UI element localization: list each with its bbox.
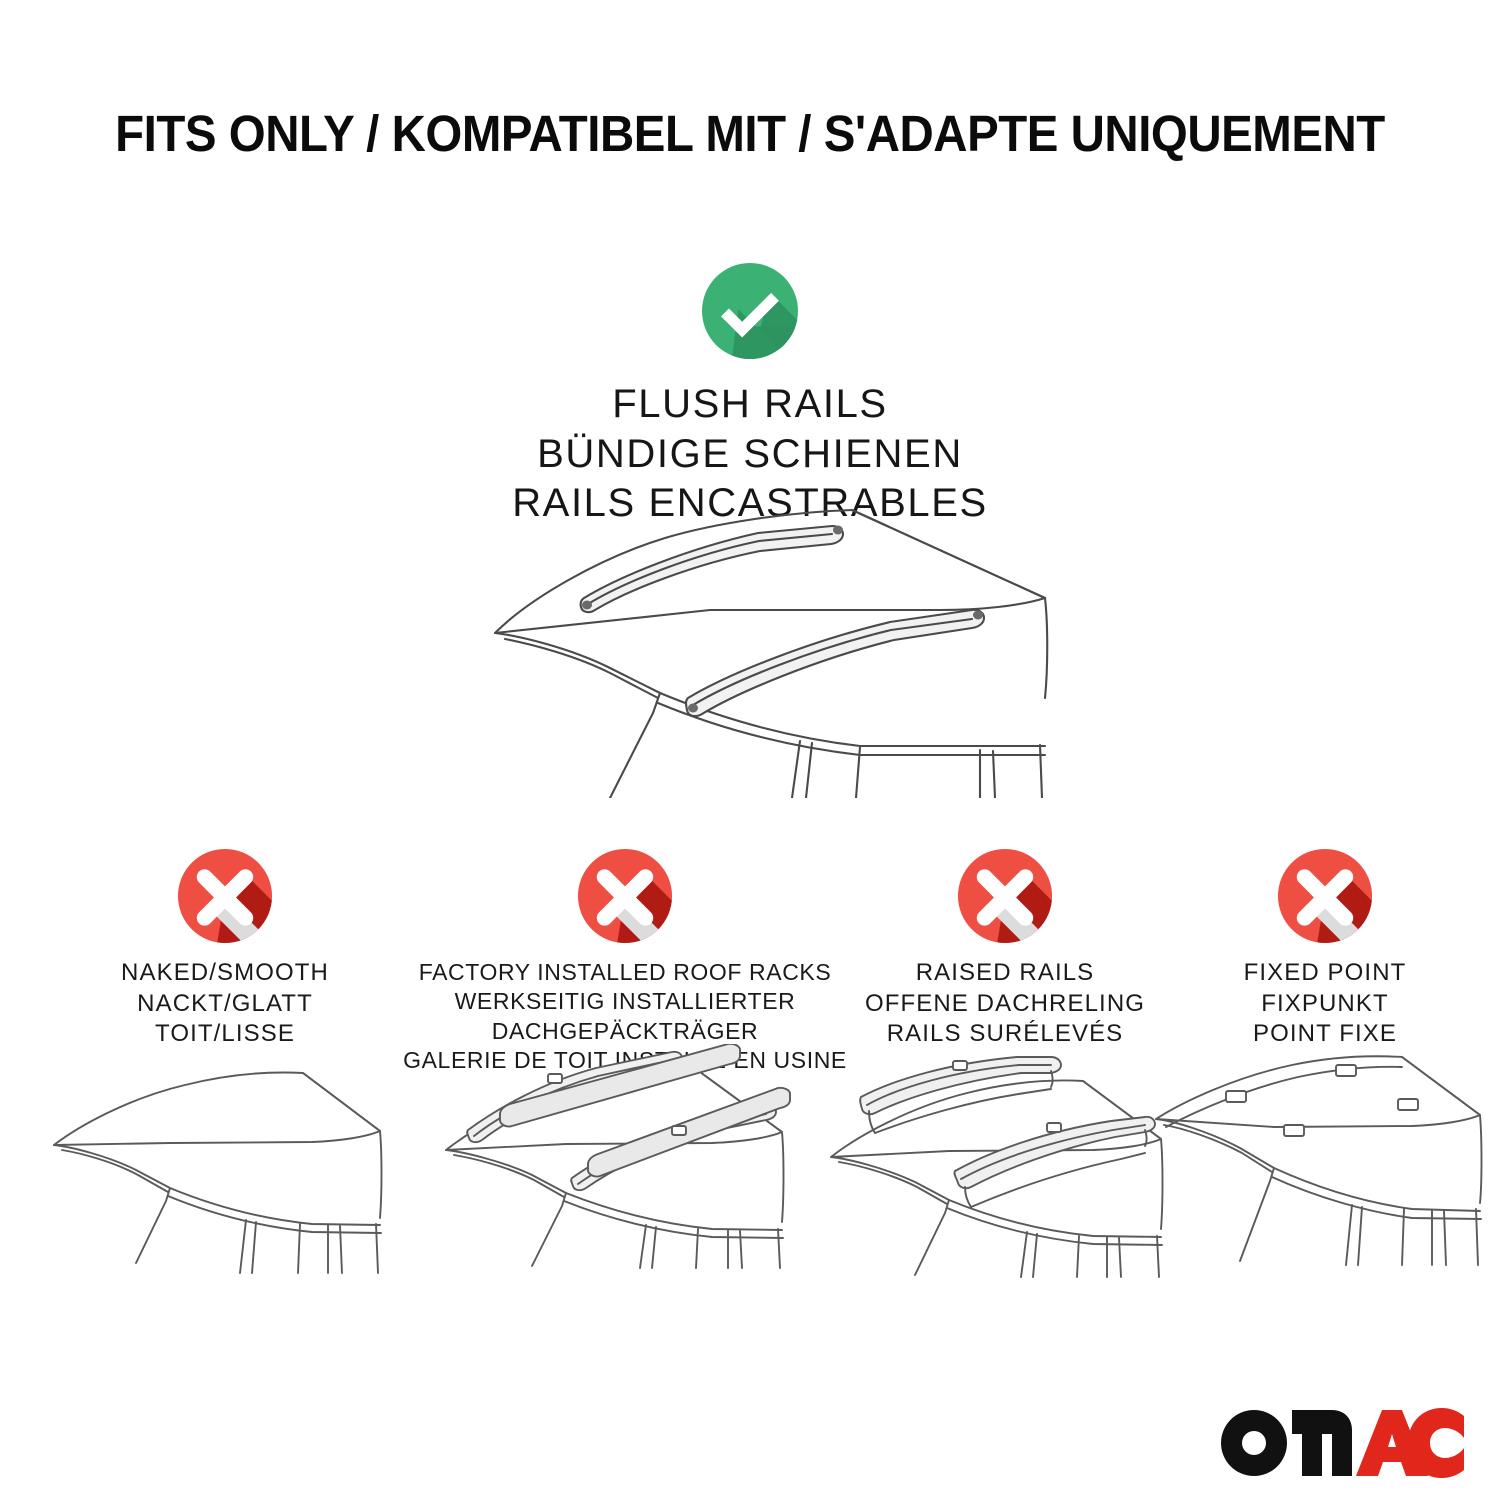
cross-circle-icon <box>577 848 673 944</box>
caption-line-en: FIXED POINT <box>1180 958 1470 989</box>
incompatible-section: NAKED/SMOOTH NACKT/GLATT TOIT/LISSE <box>0 848 1500 1318</box>
page-title: FITS ONLY / KOMPATIBEL MIT / S'ADAPTE UN… <box>53 104 1448 163</box>
incompatible-item-naked-smooth: NAKED/SMOOTH NACKT/GLATT TOIT/LISSE <box>60 848 390 1050</box>
roof-naked-smooth-illustration <box>50 1053 400 1283</box>
cross-circle-icon <box>957 848 1053 944</box>
incompatible-item-fixed-point: FIXED POINT FIXPUNKT POINT FIXE <box>1180 848 1470 1050</box>
caption-line-de-2: DACHGEPÄCKTRÄGER <box>400 1017 850 1046</box>
roof-raised-rails-illustration <box>825 1053 1185 1283</box>
caption-line-de: OFFENE DACHRELING <box>840 989 1170 1020</box>
compatible-section: FLUSH RAILS BÜNDIGE SCHIENEN RAILS ENCAS… <box>0 262 1500 529</box>
cross-circle-icon <box>177 848 273 944</box>
caption-line-en: NAKED/SMOOTH <box>60 958 390 989</box>
caption-line-de: FIXPUNKT <box>1180 989 1470 1020</box>
compatible-line-de: BÜNDIGE SCHIENEN <box>0 430 1500 480</box>
caption-line-fr: POINT FIXE <box>1180 1019 1470 1050</box>
incompatible-item-raised-rails: RAISED RAILS OFFENE DACHRELING RAILS SUR… <box>840 848 1170 1050</box>
compatible-line-en: FLUSH RAILS <box>0 380 1500 430</box>
logo-letter-m <box>1292 1410 1352 1476</box>
omac-logo <box>1216 1404 1466 1480</box>
caption-line-fr: RAILS SURÉLEVÉS <box>840 1019 1170 1050</box>
roof-fixed-point-illustration <box>1150 1053 1500 1283</box>
logo-letter-o <box>1221 1410 1287 1476</box>
roof-factory-roof-racks-illustration <box>440 1044 810 1274</box>
caption-line-en: RAISED RAILS <box>840 958 1170 989</box>
incompatible-item-factory-roof-racks: FACTORY INSTALLED ROOF RACKS WERKSEITIG … <box>400 848 850 1076</box>
caption-line-de-1: WERKSEITIG INSTALLIERTER <box>400 987 850 1016</box>
caption-line-en: FACTORY INSTALLED ROOF RACKS <box>400 958 850 987</box>
check-circle-icon <box>701 262 799 360</box>
incompatible-caption: RAISED RAILS OFFENE DACHRELING RAILS SUR… <box>840 958 1170 1050</box>
caption-line-de: NACKT/GLATT <box>60 989 390 1020</box>
caption-line-fr: TOIT/LISSE <box>60 1019 390 1050</box>
incompatible-caption: NAKED/SMOOTH NACKT/GLATT TOIT/LISSE <box>60 958 390 1050</box>
roof-with-flush-rails-illustration <box>460 498 1060 798</box>
cross-circle-icon <box>1277 848 1373 944</box>
incompatible-caption: FIXED POINT FIXPUNKT POINT FIXE <box>1180 958 1470 1050</box>
